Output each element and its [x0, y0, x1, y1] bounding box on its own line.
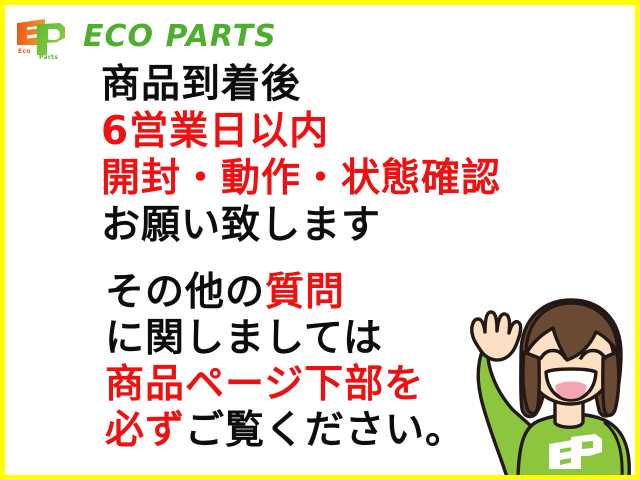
- logo-p-counter: [48, 29, 60, 40]
- instruction-block-primary: 商品到着後 6営業日以内 開封・動作・状態確認 お願い致します: [101, 61, 571, 249]
- mascot-hair-lock-right: [603, 352, 619, 415]
- mascot-hair-lock-left: [523, 352, 539, 413]
- instruction-line-8-red: 必ず: [105, 408, 185, 453]
- instruction-line-2: 6営業日以内: [101, 108, 571, 155]
- brand-header: Eco Parts ECO PARTS: [15, 13, 277, 61]
- eco-parts-logo-icon: Eco Parts: [15, 15, 73, 59]
- promo-banner: Eco Parts ECO PARTS 商品到着後 6営業日以内 開封・動作・状…: [0, 0, 640, 480]
- instruction-line-1: 商品到着後: [101, 61, 571, 108]
- mascot-illustration-icon: [429, 292, 639, 477]
- instruction-line-4: お願い致します: [101, 202, 571, 249]
- logo-sub-left-label: Eco: [18, 48, 31, 55]
- brand-name-label: ECO PARTS: [83, 22, 277, 52]
- instruction-line-5-black: その他の: [105, 270, 265, 315]
- logo-sub-right-label: Parts: [39, 54, 58, 61]
- instruction-line-8-black: ご覧ください。: [185, 408, 465, 453]
- instruction-line-5-red: 質問: [265, 270, 345, 315]
- mascot-hand: [472, 312, 521, 360]
- instruction-line-3: 開封・動作・状態確認: [101, 155, 571, 202]
